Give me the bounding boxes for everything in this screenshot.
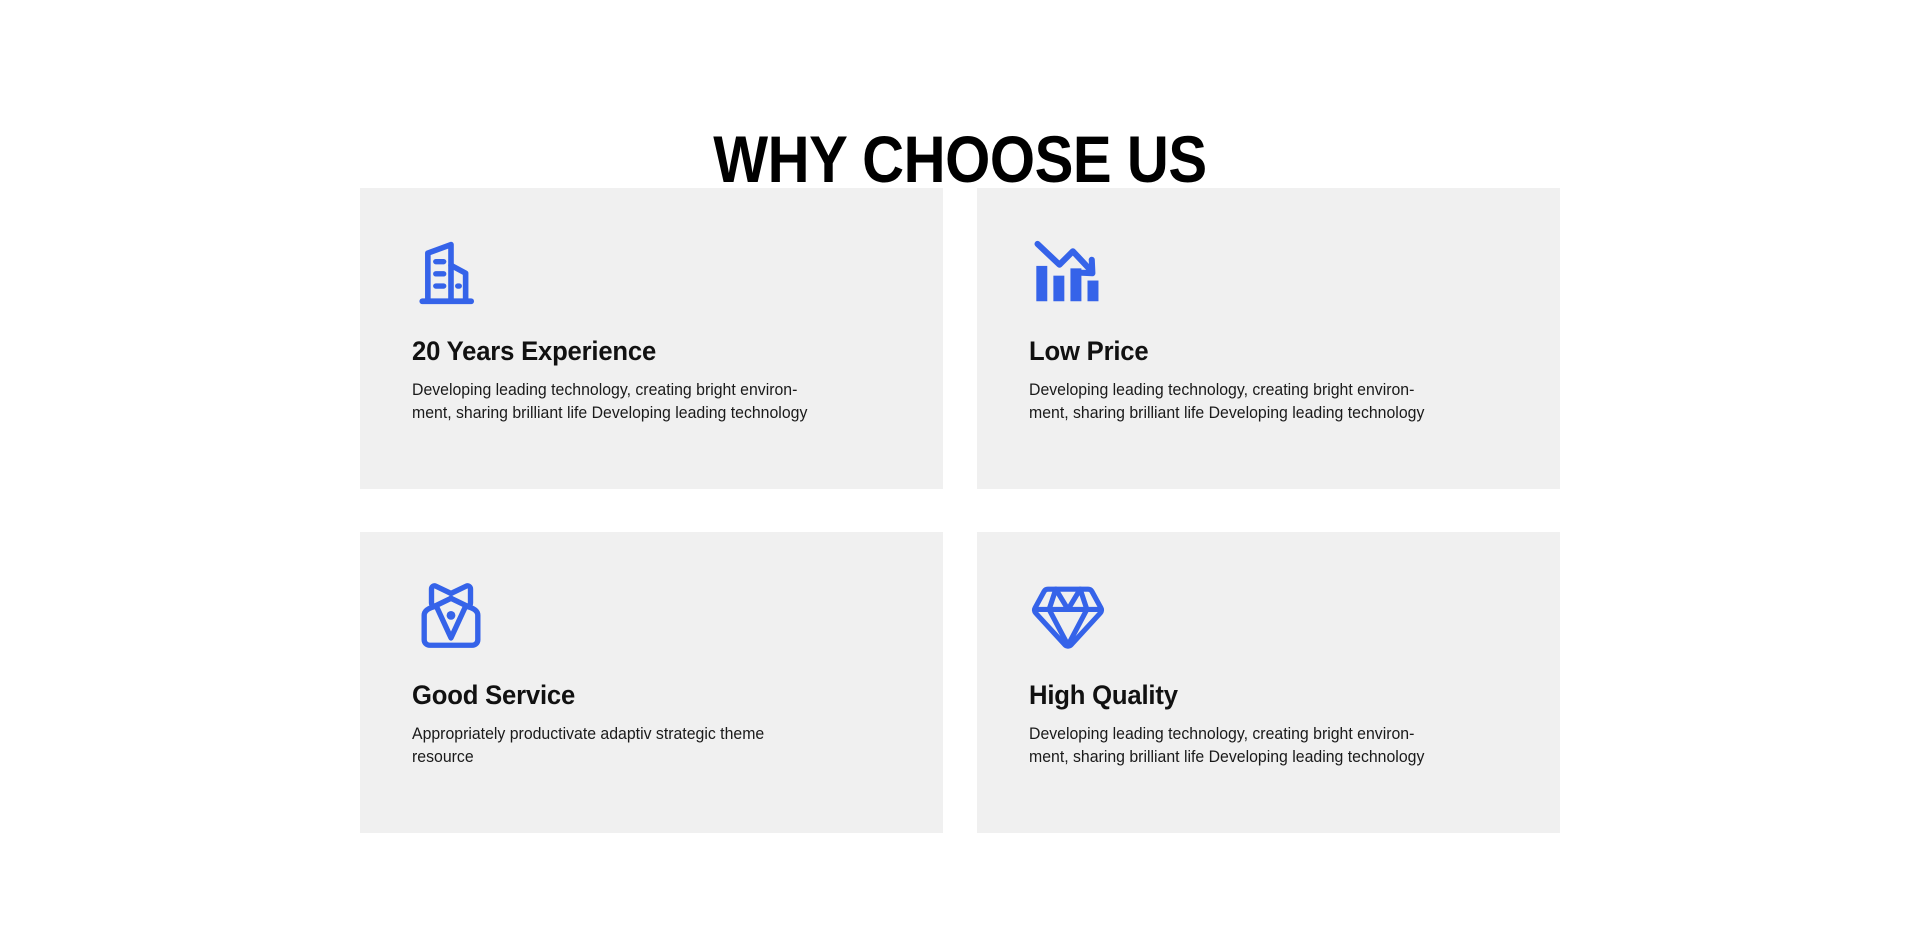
feature-cards-grid: 20 Years Experience Developing leading t… <box>360 188 1560 833</box>
feature-card-experience[interactable]: 20 Years Experience Developing leading t… <box>360 188 943 489</box>
card-description: Developing leading technology, creating … <box>412 379 808 424</box>
card-description: Appropriately productivate adaptiv strat… <box>412 723 808 768</box>
feature-card-low-price[interactable]: Low Price Developing leading technology,… <box>977 188 1560 489</box>
feature-card-high-quality[interactable]: High Quality Developing leading technolo… <box>977 532 1560 833</box>
diamond-icon <box>1029 577 1107 655</box>
bow-tie-suit-icon <box>412 577 490 655</box>
declining-bar-chart-icon <box>1029 233 1107 311</box>
page-title: WHY CHOOSE US <box>115 122 1805 196</box>
feature-card-good-service[interactable]: Good Service Appropriately productivate … <box>360 532 943 833</box>
card-title: High Quality <box>1029 679 1484 711</box>
card-title: 20 Years Experience <box>412 335 867 367</box>
card-description: Developing leading technology, creating … <box>1029 723 1425 768</box>
why-choose-us-section: WHY CHOOSE US 20 Years Experience Develo… <box>0 0 1920 930</box>
card-title: Good Service <box>412 679 867 711</box>
card-description: Developing leading technology, creating … <box>1029 379 1425 424</box>
card-title: Low Price <box>1029 335 1484 367</box>
office-building-icon <box>412 233 490 311</box>
